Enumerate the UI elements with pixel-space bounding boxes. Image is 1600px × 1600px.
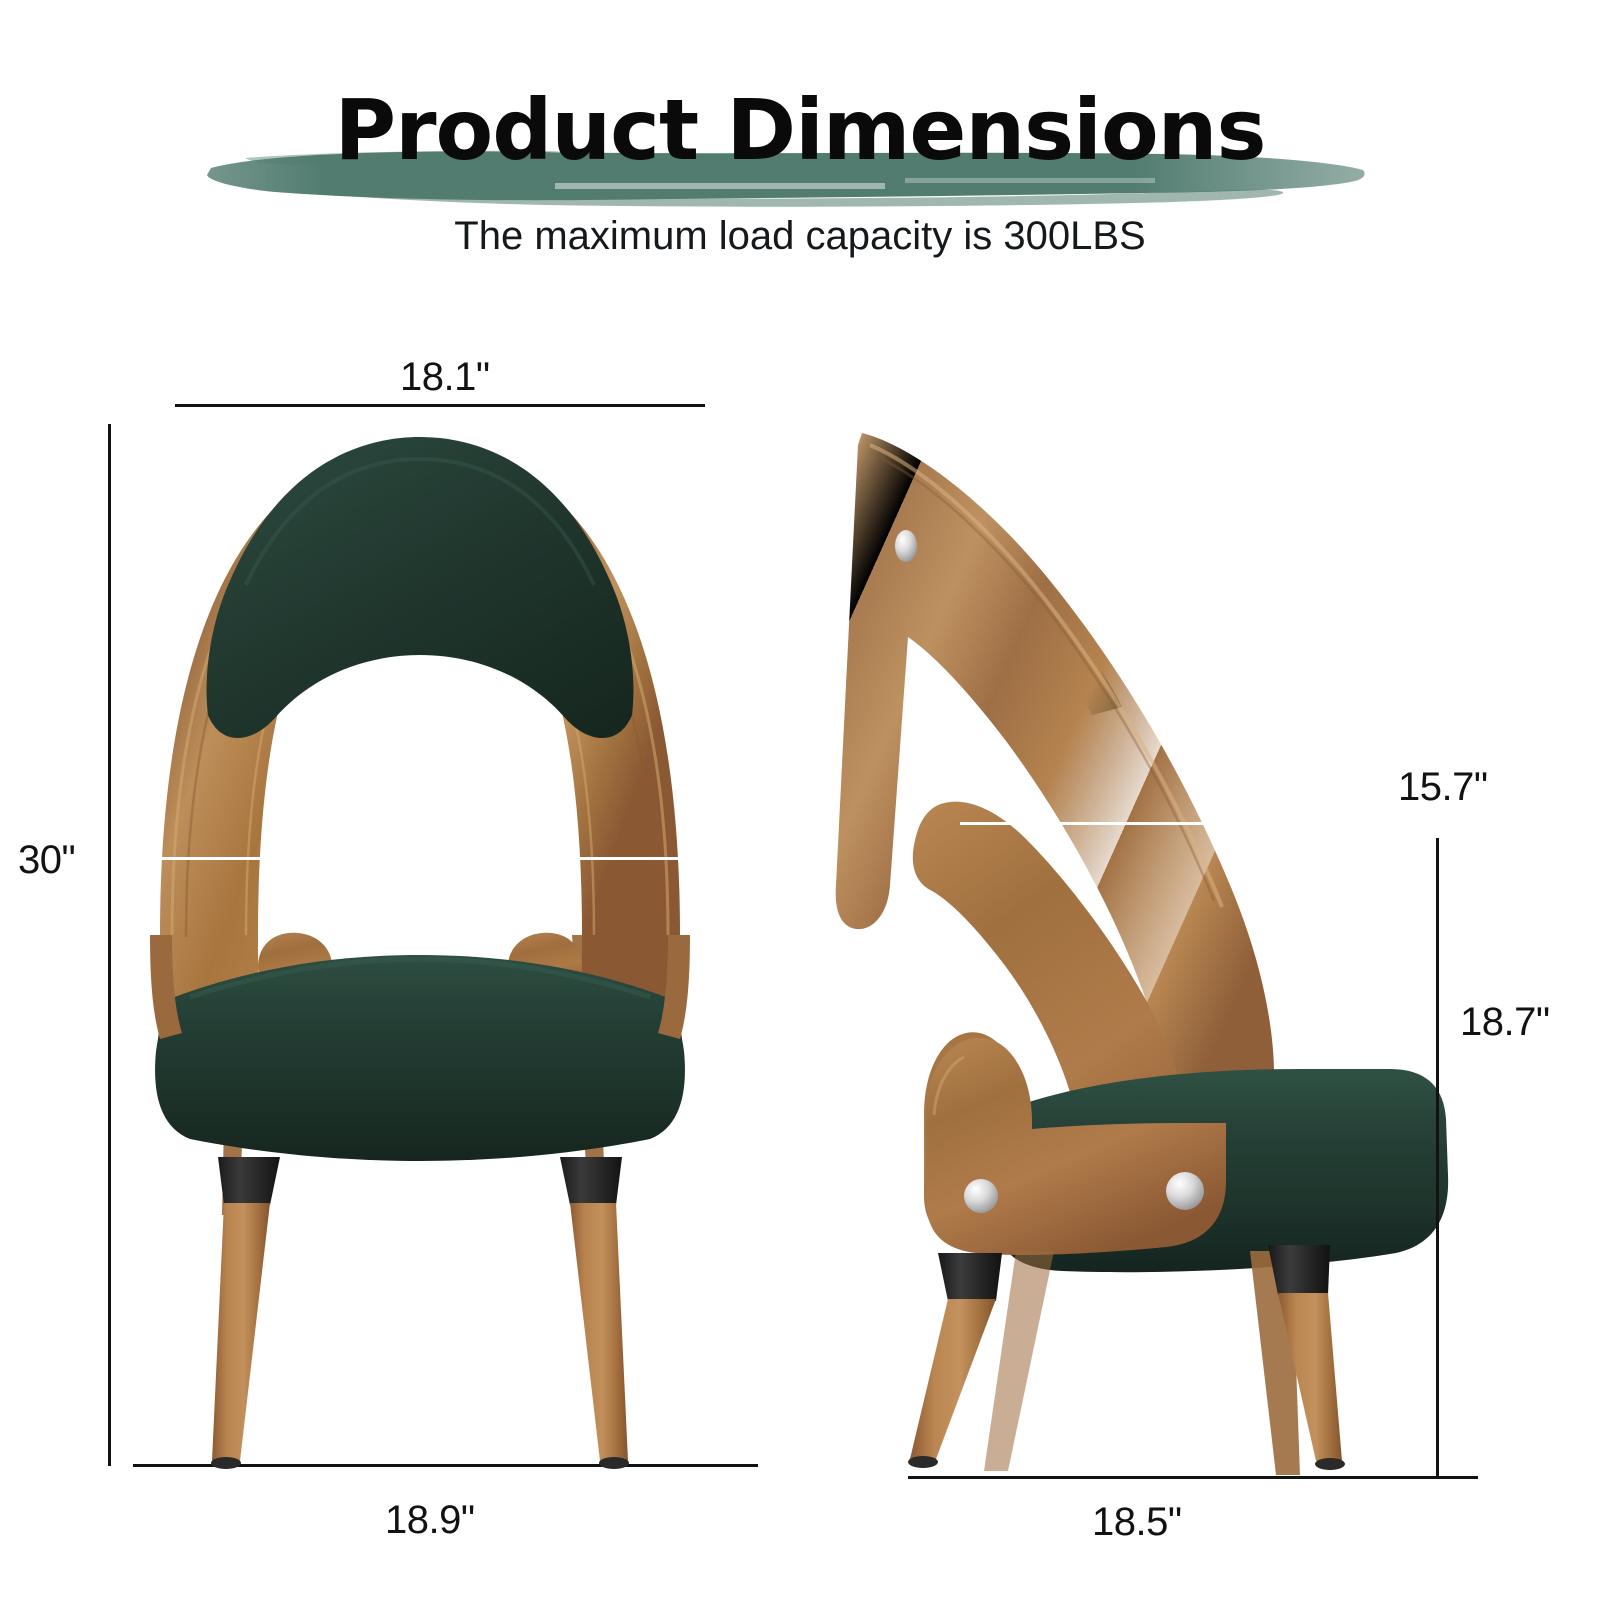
side-seat-height-line: [1436, 838, 1439, 1478]
page-title: Product Dimensions: [0, 88, 1600, 172]
front-bottom-depth-label: 18.9": [385, 1498, 475, 1543]
rivet-backrest: [895, 530, 917, 562]
header: Product Dimensions The maximum load capa…: [0, 0, 1600, 300]
side-seat-height-label: 18.7": [1460, 1000, 1550, 1045]
side-bottom-depth-label: 18.5": [1092, 1500, 1182, 1545]
front-seat-thickness-line: [484, 857, 487, 947]
page-subtitle: The maximum load capacity is 300LBS: [0, 212, 1600, 260]
chair-front-view: [120, 415, 740, 1485]
side-seat-depth-line: [960, 822, 1420, 825]
front-top-width-label: 18.1": [400, 355, 490, 400]
front-seat-width-label: 18.1": [392, 798, 477, 841]
front-seat-width-line: [148, 857, 720, 860]
side-seat-depth-label: 15.7": [1398, 765, 1488, 810]
front-total-height-label: 30": [18, 838, 75, 883]
chair-side-view: [830, 415, 1470, 1485]
side-bottom-depth-line: [908, 1476, 1478, 1479]
front-total-height-line: [108, 424, 111, 1466]
front-seat-thickness-label: 3.1": [497, 878, 561, 921]
rivet-arm-right: [1166, 1172, 1204, 1210]
front-top-width-line: [175, 404, 705, 407]
rivet-arm-left: [964, 1179, 998, 1213]
infographic-page: Product Dimensions The maximum load capa…: [0, 0, 1600, 1600]
